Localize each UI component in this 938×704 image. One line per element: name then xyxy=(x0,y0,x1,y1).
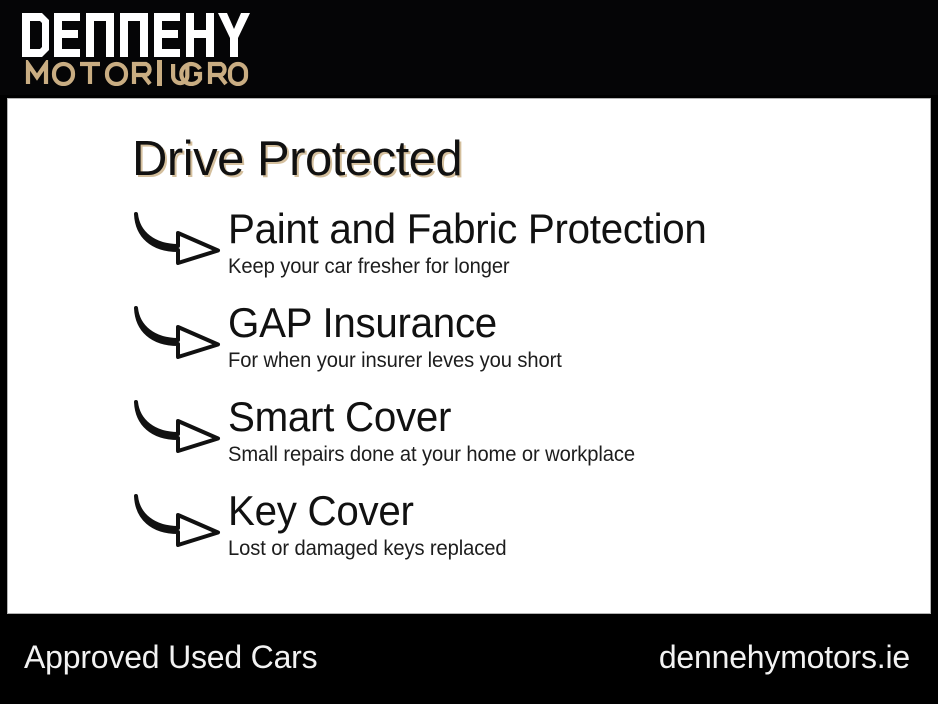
curved-arrow-icon xyxy=(132,493,224,547)
curved-arrow-icon xyxy=(132,399,224,453)
curved-arrow-icon xyxy=(132,211,224,265)
advertisement-banner: Drive Protected Paint and Fabric Protect… xyxy=(0,0,938,704)
feature-text-block: GAP Insurance For when your insurer leve… xyxy=(228,299,920,373)
footer-bar: Approved Used Cars dennehymotors.ie xyxy=(0,617,938,704)
logo-brand-wordmark xyxy=(22,13,250,57)
feature-heading: Paint and Fabric Protection xyxy=(228,205,892,253)
content-panel: Drive Protected Paint and Fabric Protect… xyxy=(7,98,931,614)
feature-text-block: Paint and Fabric Protection Keep your ca… xyxy=(228,205,920,279)
list-item: Smart Cover Small repairs done at your h… xyxy=(8,393,930,487)
feature-text-block: Smart Cover Small repairs done at your h… xyxy=(228,393,920,467)
logo-subtitle xyxy=(24,60,250,86)
feature-list: Paint and Fabric Protection Keep your ca… xyxy=(8,205,930,581)
page-title: Drive Protected xyxy=(132,131,462,187)
feature-heading: Smart Cover xyxy=(228,393,892,441)
curved-arrow-icon xyxy=(132,305,224,359)
feature-heading: GAP Insurance xyxy=(228,299,892,347)
footer-tagline: Approved Used Cars xyxy=(24,639,317,676)
dennehy-logo xyxy=(22,13,252,85)
footer-website[interactable]: dennehymotors.ie xyxy=(659,639,910,676)
list-item: GAP Insurance For when your insurer leve… xyxy=(8,299,930,393)
feature-text-block: Key Cover Lost or damaged keys replaced xyxy=(228,487,920,561)
list-item: Key Cover Lost or damaged keys replaced xyxy=(8,487,930,581)
feature-heading: Key Cover xyxy=(228,487,892,535)
list-item: Paint and Fabric Protection Keep your ca… xyxy=(8,205,930,299)
feature-subtext: Lost or damaged keys replaced xyxy=(228,536,892,561)
feature-subtext: Keep your car fresher for longer xyxy=(228,254,892,279)
feature-subtext: Small repairs done at your home or workp… xyxy=(228,442,892,467)
header-bar xyxy=(0,0,938,95)
feature-subtext: For when your insurer leves you short xyxy=(228,348,892,373)
